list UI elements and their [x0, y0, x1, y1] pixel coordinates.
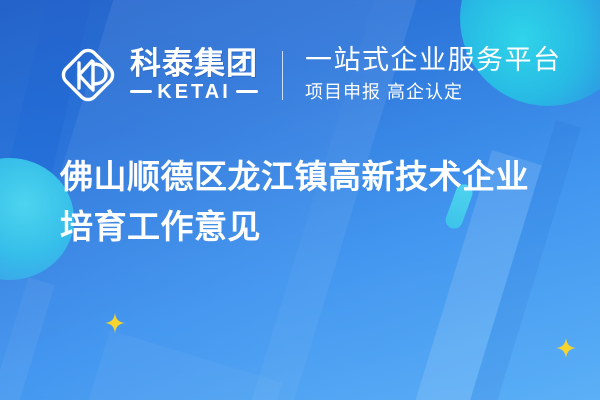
- page-title: 佛山顺德区龙江镇高新技术企业 培育工作意见: [60, 152, 560, 252]
- brand-name-en-row: KETAI: [130, 82, 258, 102]
- page-title-line-2: 培育工作意见: [60, 202, 560, 252]
- banner-header: 科泰集团 KETAI 一站式企业服务平台 项目申报 高企认定: [56, 36, 562, 114]
- promo-banner: 科泰集团 KETAI 一站式企业服务平台 项目申报 高企认定 佛山顺德区龙江镇高…: [0, 0, 600, 400]
- wordmark-rule-right: [236, 90, 258, 93]
- slogan-main-text: 一站式企业服务平台: [305, 45, 562, 77]
- brand-name-cn: 科泰集团: [130, 48, 258, 81]
- ketai-logo-icon: [56, 43, 120, 107]
- wordmark-rule-left: [130, 90, 152, 93]
- slogan-sub-text: 项目申报 高企认定: [305, 80, 562, 104]
- background-band-4: [52, 330, 283, 400]
- logo-wordmark: 科泰集团 KETAI: [130, 48, 258, 102]
- four-point-sparkle-icon-right: [556, 338, 576, 358]
- vertical-divider: [282, 51, 283, 100]
- brand-name-en: KETAI: [157, 82, 231, 102]
- page-title-line-1: 佛山顺德区龙江镇高新技术企业: [60, 152, 560, 202]
- slogan-block: 一站式企业服务平台 项目申报 高企认定: [305, 45, 562, 104]
- four-point-sparkle-icon-left: [105, 313, 125, 333]
